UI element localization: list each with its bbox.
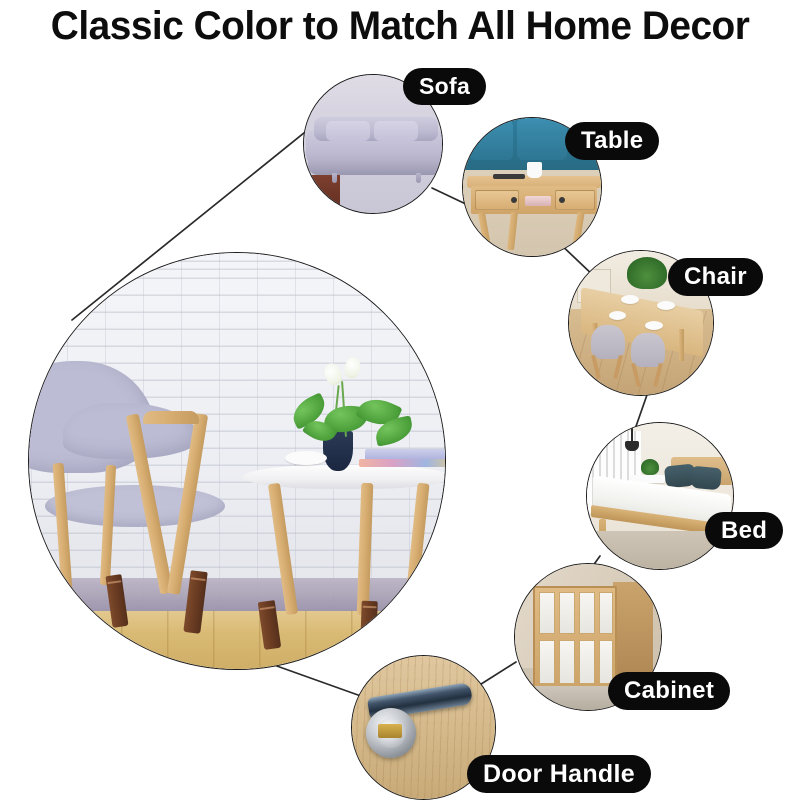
pendant-lamp-cord bbox=[631, 423, 633, 443]
dining-chair-2 bbox=[631, 333, 665, 367]
drawer-knob-right bbox=[559, 197, 565, 203]
wardrobe-glass-3-bottom bbox=[579, 640, 595, 684]
label-text-door-handle: Door Handle bbox=[483, 760, 635, 789]
drawer-knob-left bbox=[511, 197, 517, 203]
label-pill-door-handle[interactable]: Door Handle bbox=[467, 755, 651, 793]
wardrobe-glass-3-top bbox=[579, 592, 595, 634]
callout-photo-bed bbox=[586, 422, 734, 570]
door-handle-spindle bbox=[378, 724, 402, 738]
dining-chair-1 bbox=[591, 325, 625, 359]
wardrobe-glass-2-bottom bbox=[559, 640, 575, 684]
bedside-plant bbox=[641, 459, 659, 475]
dining-plate-1 bbox=[609, 311, 626, 320]
chair-seat bbox=[45, 485, 225, 527]
label-text-bed: Bed bbox=[721, 517, 767, 545]
chair-frame-top bbox=[143, 411, 199, 424]
label-pill-cabinet[interactable]: Cabinet bbox=[608, 672, 730, 710]
main-product-photo bbox=[28, 252, 446, 670]
page-title: Classic Color to Match All Home Decor bbox=[0, 0, 800, 52]
wardrobe-glass-4-bottom bbox=[599, 640, 613, 684]
sofa-cushion-2 bbox=[374, 121, 418, 141]
dining-table-leg-2 bbox=[679, 329, 684, 361]
remote-control bbox=[493, 174, 525, 179]
label-text-cabinet: Cabinet bbox=[624, 677, 714, 705]
wardrobe-glass-4-top bbox=[599, 592, 613, 634]
pendant-lamp-shade bbox=[625, 441, 639, 451]
label-text-chair: Chair bbox=[684, 263, 747, 291]
wardrobe-glass-1-bottom bbox=[539, 640, 555, 684]
shelf-books bbox=[525, 196, 551, 206]
label-pill-table[interactable]: Table bbox=[565, 122, 659, 160]
dining-plate-4 bbox=[657, 301, 675, 310]
magazine-pages bbox=[359, 459, 445, 467]
teal-sofa-cushion-1 bbox=[469, 120, 513, 160]
wardrobe-glass-1-top bbox=[539, 592, 555, 634]
dining-plate-3 bbox=[645, 321, 663, 330]
label-pill-sofa[interactable]: Sofa bbox=[403, 68, 486, 105]
sofa-leg-left bbox=[332, 173, 337, 183]
wardrobe-glass-2-top bbox=[559, 592, 575, 634]
baseboard bbox=[29, 578, 445, 611]
dining-plant bbox=[627, 257, 667, 289]
dining-plate-2 bbox=[621, 295, 639, 304]
teal-sofa-cushion-2 bbox=[517, 118, 567, 160]
label-pill-bed[interactable]: Bed bbox=[705, 512, 783, 549]
bed-pillow-2 bbox=[690, 466, 722, 491]
saucer bbox=[285, 451, 327, 465]
sofa-seat-base bbox=[308, 159, 442, 175]
sofa-cushion-1 bbox=[326, 121, 370, 141]
infographic-canvas: Classic Color to Match All Home Decor bbox=[0, 0, 800, 800]
label-text-table: Table bbox=[581, 127, 643, 155]
sofa-leg-right bbox=[416, 173, 421, 183]
page-title-text: Classic Color to Match All Home Decor bbox=[51, 5, 750, 47]
chair-leg-cover-1 bbox=[44, 583, 62, 626]
label-pill-chair[interactable]: Chair bbox=[668, 258, 763, 296]
table-leg-cover-2 bbox=[360, 601, 378, 646]
label-text-sofa: Sofa bbox=[419, 73, 470, 100]
coffee-mug bbox=[527, 162, 542, 178]
